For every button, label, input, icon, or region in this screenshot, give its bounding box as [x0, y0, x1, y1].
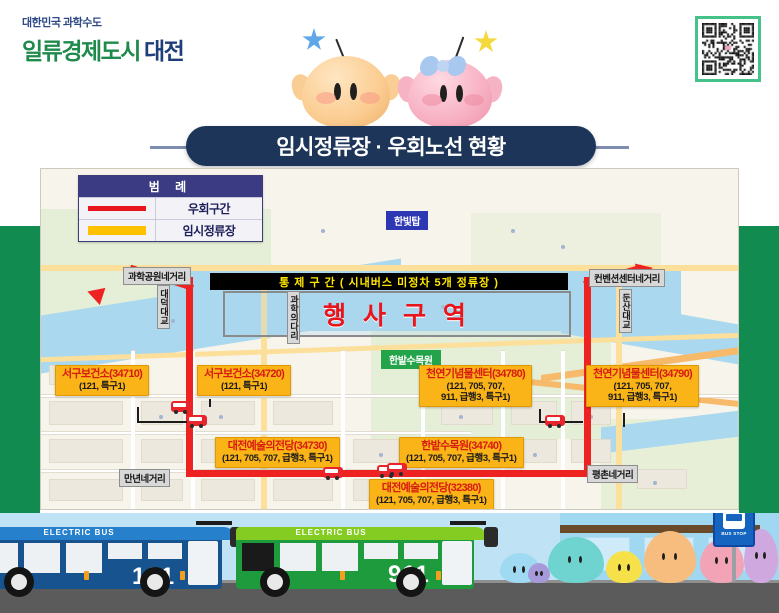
bus-stop-sign-pole: [732, 547, 736, 581]
stop-routes-34780-1: (121, 705, 707,: [426, 381, 525, 392]
legend-swatch-detour-icon: [79, 202, 155, 215]
stop-title-34730: 대전예술의전당(34730): [222, 440, 333, 453]
side-panel-left: [0, 226, 40, 513]
event-zone-label: 행 사 구 역: [323, 296, 471, 332]
legend-swatch-temp-stop-icon: [79, 222, 155, 239]
bus-121-roof-label: ELECTRIC BUS: [43, 528, 114, 537]
stop-leader-34720: [209, 399, 211, 407]
place-label-pyeongchon: 평촌네거리: [587, 465, 638, 483]
page-title: 임시정류장 · 우회노선 현황: [186, 126, 596, 166]
stop-routes-34710: (121, 특구1): [62, 381, 142, 392]
bus-icon: [723, 513, 745, 529]
brand-title-part2: 대전: [144, 38, 183, 64]
blue-star-icon: [302, 28, 326, 52]
stop-routes-34790-1: (121, 705, 707,: [593, 381, 692, 392]
bus-marker-34710-icon: [187, 415, 207, 426]
poster-root: 대한민국 과학수도 일류경제도시대전: [0, 0, 779, 613]
stop-title-34780: 천연기념물센터(34780): [426, 368, 525, 381]
bus-121: ELECTRIC BUS 121: [0, 527, 234, 589]
stop-title-32380: 대전예술의전당(32380): [376, 482, 487, 495]
character-purple: [528, 563, 550, 583]
stop-leader-34710-h: [137, 421, 187, 423]
stop-callout-34710[interactable]: 서구보건소(34710) (121, 특구1): [55, 365, 149, 396]
place-label-daedeokdaegyo: 대덕대교: [157, 285, 170, 329]
place-label-hanbitap: 한빛탑: [386, 211, 428, 230]
bus-marker-34730-icon: [323, 467, 343, 478]
stop-routes-34740: (121, 705, 707, 급행3, 특구1): [406, 453, 517, 464]
bus-911-roof-label: ELECTRIC BUS: [295, 528, 366, 537]
stop-callout-34730[interactable]: 대전예술의전당(34730) (121, 705, 707, 급행3, 특구1): [215, 437, 340, 468]
stop-callout-32380[interactable]: 대전예술의전당(32380) (121, 705, 707, 급행3, 특구1): [369, 479, 494, 510]
bow-icon: [420, 56, 466, 76]
stop-callout-34740[interactable]: 한밭수목원(34740) (121, 705, 707, 급행3, 특구1): [399, 437, 524, 468]
page-title-text: 임시정류장 · 우회노선 현황: [276, 131, 506, 161]
bottom-illustration: ELECTRIC BUS 121 ELECTRIC BUS: [0, 513, 779, 613]
stop-callout-34780[interactable]: 천연기념물센터(34780) (121, 705, 707, 911, 급행3,…: [419, 365, 532, 407]
brand-title: 일류경제도시대전: [22, 32, 183, 66]
legend-label-detour: 우회구간: [155, 198, 262, 219]
stop-title-34790: 천연기념물센터(34790): [593, 368, 692, 381]
bus-911: ELECTRIC BUS 911: [236, 527, 486, 589]
place-label-mannyeon: 만년네거리: [119, 469, 170, 487]
stop-title-34720: 서구보건소(34720): [204, 368, 284, 381]
city-brand-logo: 대한민국 과학수도 일류경제도시대전: [22, 14, 183, 66]
qr-code-canvas: [702, 23, 754, 75]
stop-title-34710: 서구보건소(34710): [62, 368, 142, 381]
detour-map[interactable]: 범 례 우회구간 임시정류장 통 제 구 간 ( 시내버스 미정차 5개 정류장…: [40, 168, 739, 510]
stop-routes-34780-2: 911, 급행3, 특구1): [426, 392, 525, 403]
map-legend: 범 례 우회구간 임시정류장: [78, 175, 263, 242]
character-teal: [548, 537, 604, 583]
qr-code-icon[interactable]: [695, 16, 761, 82]
bus-911-pantograph: [450, 521, 486, 525]
stop-routes-34720: (121, 특구1): [204, 381, 284, 392]
side-panel-right: [739, 226, 779, 513]
brand-title-part1: 일류경제도시: [22, 38, 140, 64]
legend-header: 범 례: [79, 176, 262, 197]
stop-routes-34730: (121, 705, 707, 급행3, 특구1): [222, 453, 333, 464]
stop-title-34740: 한밭수목원(34740): [406, 440, 517, 453]
detour-route-vertical-left: [186, 277, 193, 477]
place-label-convention: 컨벤션센터네거리: [589, 269, 665, 287]
character-yellow-small: [606, 551, 642, 583]
legend-row-temp-stop: 임시정류장: [79, 219, 262, 241]
bus-marker-34720-icon: [171, 401, 191, 412]
legend-row-detour: 우회구간: [79, 197, 262, 219]
place-label-gwahakgongwon: 과학공원네거리: [123, 267, 191, 285]
control-section-banner: 통 제 구 간 ( 시내버스 미정차 5개 정류장 ): [210, 273, 568, 290]
brand-subtitle: 대한민국 과학수도: [22, 14, 183, 30]
event-zone-box: 행 사 구 역: [223, 291, 571, 337]
place-label-gwahagui-dari: 과학의다리: [287, 291, 300, 344]
legend-label-temp-stop: 임시정류장: [155, 220, 262, 241]
bus-stop-sign: BUS STOP: [713, 513, 755, 581]
bus-marker-34780-icon: [545, 415, 565, 426]
stop-callout-34790[interactable]: 천연기념물센터(34790) (121, 705, 707, 911, 급행3,…: [586, 365, 699, 407]
mascot-kkumsuni-icon: [400, 28, 500, 128]
stop-routes-34790-2: 911, 급행3, 특구1): [593, 392, 692, 403]
bus-marker-32380-icon: [387, 463, 407, 474]
bus-stop-sign-label: BUS STOP: [721, 531, 746, 536]
stop-routes-32380: (121, 705, 707, 급행3, 특구1): [376, 495, 487, 506]
bus-911-charger-icon: [484, 527, 498, 547]
stop-callout-34720[interactable]: 서구보건소(34720) (121, 특구1): [197, 365, 291, 396]
place-label-dunsandaegyo: 둔산대교: [619, 289, 632, 333]
bus-121-pantograph: [196, 521, 232, 525]
stop-leader-34790: [623, 413, 625, 427]
yellow-star-icon: [474, 30, 498, 54]
mascot-kkumdori-icon: [296, 28, 396, 128]
mascot-group: [288, 16, 508, 128]
